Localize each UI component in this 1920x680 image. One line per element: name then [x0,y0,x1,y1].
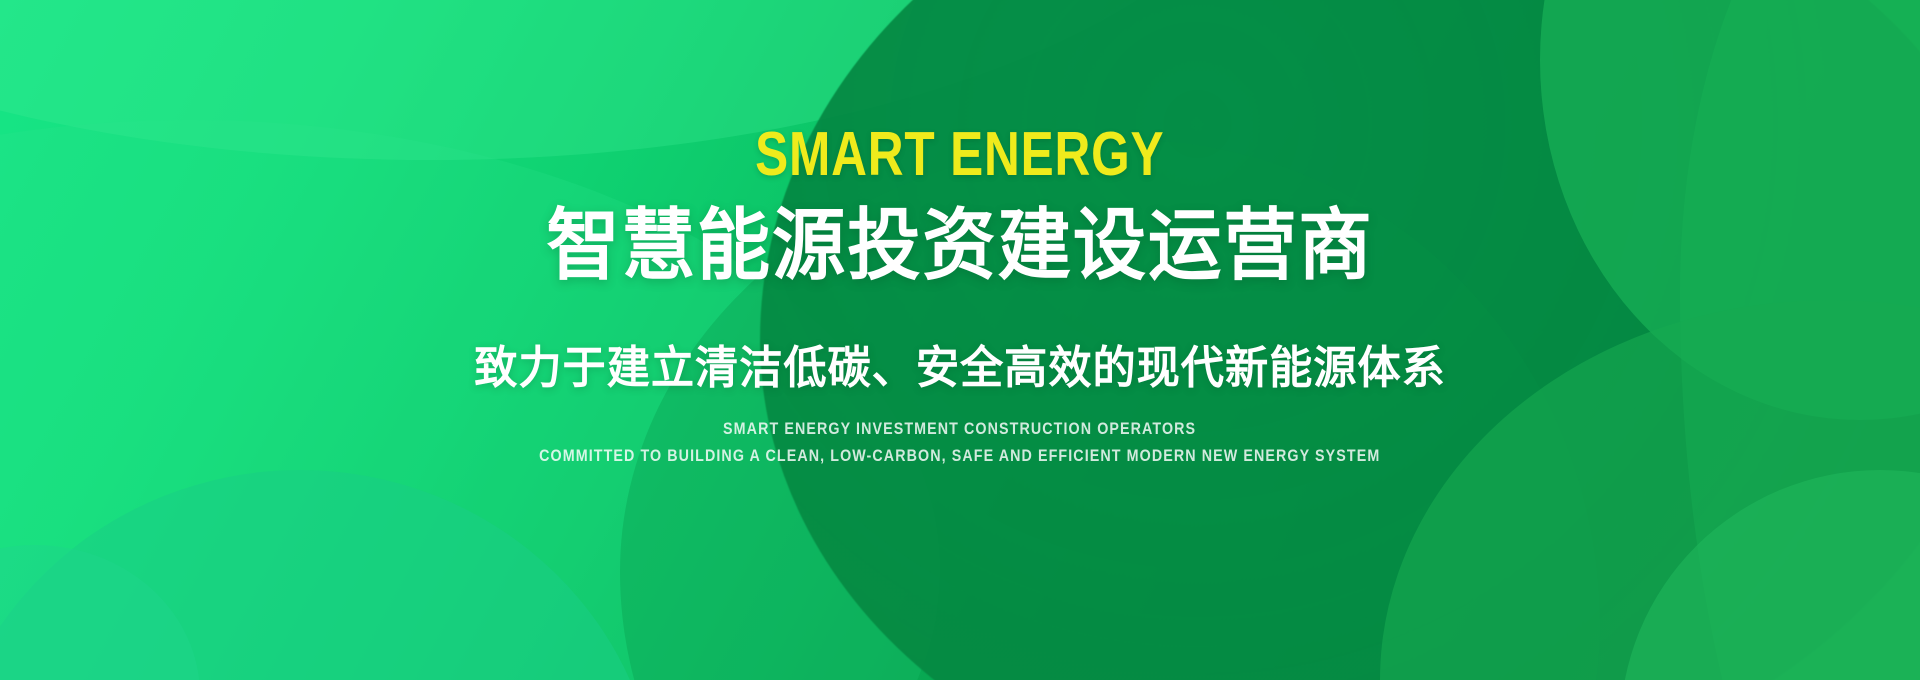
banner-subheadline: 致力于建立清洁低碳、安全高效的现代新能源体系 [474,343,1446,393]
banner-tagline-line-2: COMMITTED TO BUILDING A CLEAN, LOW-CARBO… [539,445,1380,466]
banner-tagline-group: SMART ENERGY INVESTMENT CONSTRUCTION OPE… [459,418,1460,467]
banner-tagline-line-1: SMART ENERGY INVESTMENT CONSTRUCTION OPE… [723,418,1196,439]
banner-eyebrow-smart-energy: SMART ENERGY [755,124,1164,186]
banner-content: SMART ENERGY 智慧能源投资建设运营商 致力于建立清洁低碳、安全高效的… [0,0,1920,680]
smart-energy-banner: SMART ENERGY 智慧能源投资建设运营商 致力于建立清洁低碳、安全高效的… [0,0,1920,680]
banner-headline: 智慧能源投资建设运营商 [546,204,1373,287]
